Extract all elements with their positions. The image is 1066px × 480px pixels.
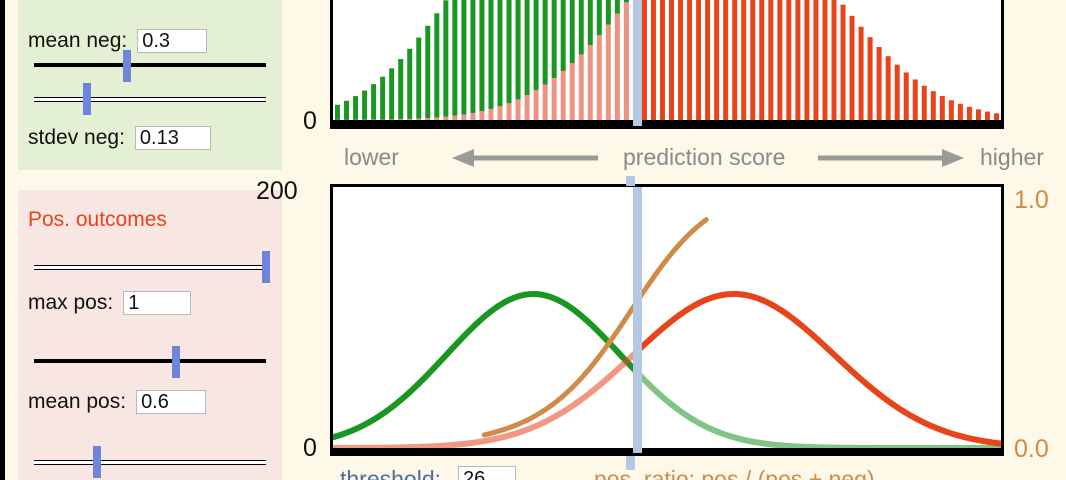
positive-outcomes-panel: Pos. outcomes max pos: 1 mean pos: 0.6 xyxy=(18,190,282,480)
mean-pos-label: mean pos: xyxy=(28,390,126,414)
stdev-pos-slider[interactable] xyxy=(34,448,266,474)
threshold-line-bottom[interactable] xyxy=(633,187,642,453)
stdev-neg-field-row: stdev neg: 0.13 xyxy=(28,124,278,152)
stdev-neg-value[interactable]: 0.13 xyxy=(135,126,211,150)
mean-pos-slider-handle[interactable] xyxy=(172,346,180,378)
mean-pos-value[interactable]: 0.6 xyxy=(136,390,206,414)
mean-pos-field-row: mean pos: 0.6 xyxy=(28,388,278,416)
threshold-line-bottom-tail[interactable] xyxy=(626,456,635,470)
bottom-chart-top-tick: 200 xyxy=(256,177,298,206)
max-pos-field-row: max pos: 1 xyxy=(28,289,278,317)
stdev-pos-slider-handle[interactable] xyxy=(93,446,101,478)
negative-outcomes-panel: Neg. outcomes mean neg: 0.3 stdev neg: 0… xyxy=(18,0,282,170)
top-chart-zero-tick: 0 xyxy=(303,107,317,136)
mean-pos-slider-track[interactable] xyxy=(34,359,266,363)
right-axis-zero-tick: 0.0 xyxy=(1014,435,1049,464)
max-pos-value[interactable]: 1 xyxy=(123,291,191,315)
stdev-neg-label: stdev neg: xyxy=(28,126,125,150)
pos-ratio-label: pos. ratio: pos / (pos + neg) xyxy=(594,466,875,480)
mean-neg-slider[interactable] xyxy=(34,52,266,78)
right-arrow-icon xyxy=(818,148,964,168)
mean-neg-value[interactable]: 0.3 xyxy=(137,29,207,53)
curves-plot xyxy=(333,187,1001,453)
x-axis-higher-label: higher xyxy=(980,144,1044,171)
stdev-neg-slider[interactable] xyxy=(34,85,266,111)
histogram-chart xyxy=(330,0,1004,129)
x-axis-lower-label: lower xyxy=(344,144,399,171)
x-axis-center-label: prediction score xyxy=(623,144,785,171)
stdev-neg-slider-handle[interactable] xyxy=(83,83,91,115)
controls-column: Neg. outcomes mean neg: 0.3 stdev neg: 0… xyxy=(0,0,300,480)
mean-neg-slider-track[interactable] xyxy=(34,63,266,67)
mean-neg-label: mean neg: xyxy=(28,29,127,53)
threshold-line-bottom-cap[interactable] xyxy=(626,176,635,186)
histogram-plot xyxy=(333,0,1001,126)
max-pos-slider-handle[interactable] xyxy=(262,251,270,283)
mean-neg-field-row: mean neg: 0.3 xyxy=(28,27,278,55)
max-pos-label: max pos: xyxy=(28,291,113,315)
stdev-pos-slider-track[interactable] xyxy=(34,460,266,465)
simulator-app: Neg. outcomes mean neg: 0.3 stdev neg: 0… xyxy=(0,0,1066,480)
stdev-neg-slider-track[interactable] xyxy=(34,97,266,102)
threshold-line-top[interactable] xyxy=(633,0,642,126)
left-arrow-icon xyxy=(452,148,598,168)
right-axis-one-tick: 1.0 xyxy=(1014,186,1049,215)
positive-panel-title: Pos. outcomes xyxy=(28,208,167,232)
max-pos-slider-track[interactable] xyxy=(34,265,266,270)
threshold-value-input[interactable]: 26 xyxy=(458,466,516,480)
max-pos-slider[interactable] xyxy=(34,253,266,279)
bottom-chart-zero-tick: 0 xyxy=(303,434,317,463)
mean-pos-slider[interactable] xyxy=(34,348,266,374)
curves-chart xyxy=(330,184,1004,456)
threshold-label: threshold: xyxy=(340,466,441,480)
